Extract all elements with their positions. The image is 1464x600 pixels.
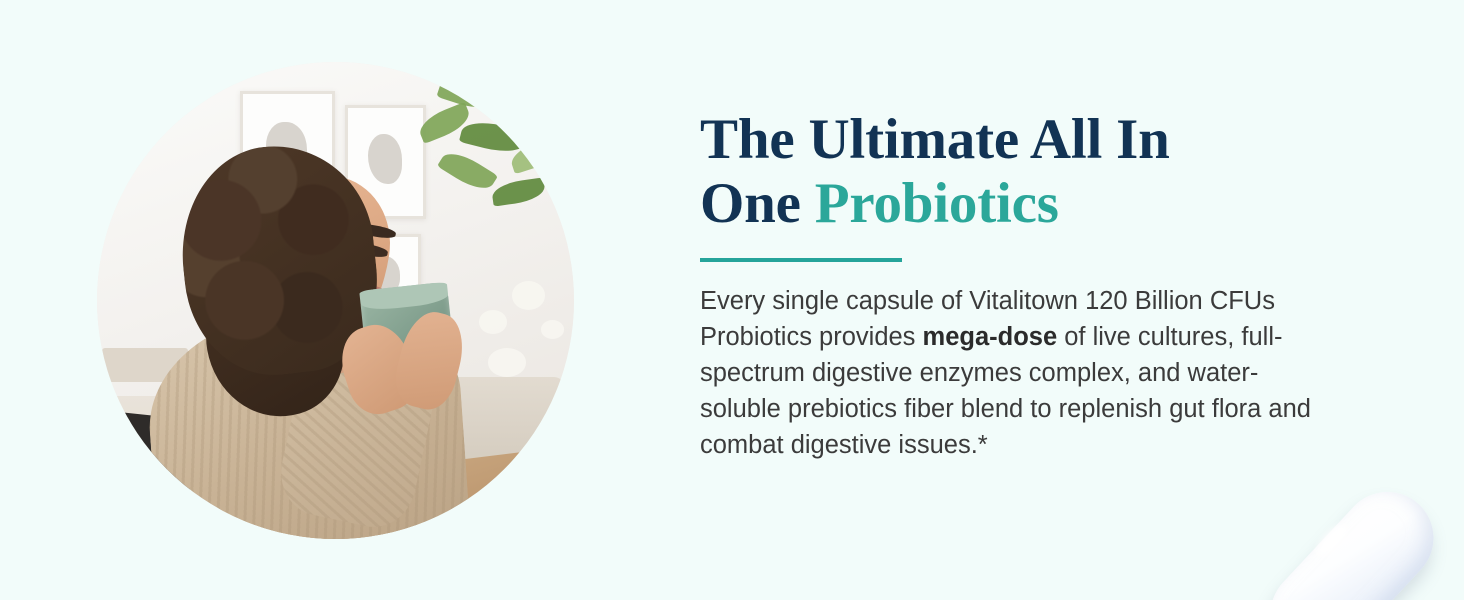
- capsule-highlight: [1313, 520, 1352, 560]
- product-hero-banner: The Ultimate All In One Probiotics Every…: [0, 0, 1464, 600]
- hero-text-column: The Ultimate All In One Probiotics Every…: [700, 108, 1340, 463]
- headline-line-2-plain: One: [700, 172, 815, 235]
- description-emphasis: mega-dose: [923, 323, 1058, 351]
- photo-scene: [97, 62, 574, 539]
- headline-line-1: The Ultimate All In: [700, 108, 1170, 171]
- woman-drinking: [135, 119, 536, 539]
- headline-accent-word: Probiotics: [815, 172, 1059, 235]
- probiotic-capsule-icon: [1252, 473, 1453, 600]
- lifestyle-photo: [97, 62, 574, 539]
- capsule-decoration: [1272, 442, 1464, 600]
- title-divider: [700, 258, 902, 262]
- hero-description: Every single capsule of Vitalitown 120 B…: [700, 283, 1320, 463]
- page-title: The Ultimate All In One Probiotics: [700, 108, 1340, 236]
